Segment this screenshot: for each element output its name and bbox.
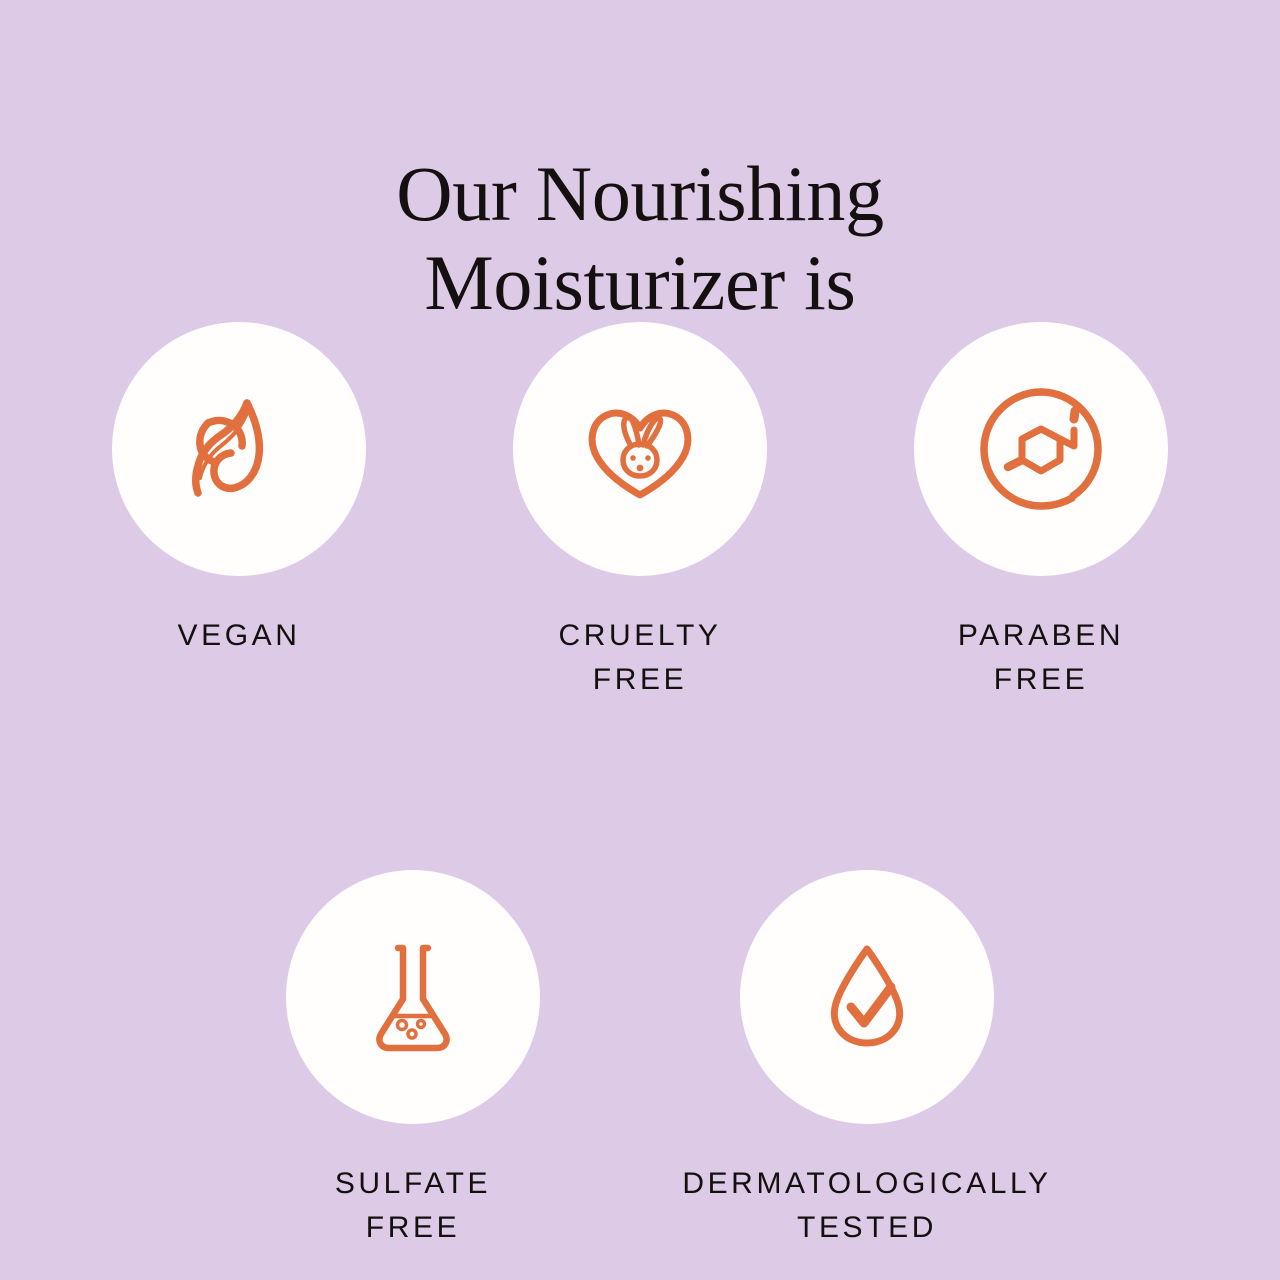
- page-title-line-2: Moisturizer is: [0, 239, 1280, 328]
- badge-label: SULFATE FREE: [335, 1162, 491, 1251]
- badge-dermatologically-tested[interactable]: DERMATOLOGICALLY TESTED: [740, 870, 994, 1251]
- molecule-circle-icon: [975, 383, 1107, 515]
- badge-row-1: VEGAN: [0, 322, 1280, 703]
- badge-grid: VEGAN: [0, 322, 1280, 1251]
- flask-icon: [347, 931, 479, 1063]
- badge-row-2: SULFATE FREE: [0, 870, 1280, 1251]
- page-title-line-1: Our Nourishing: [0, 150, 1280, 239]
- badge-icon-container: [112, 322, 366, 576]
- badge-label: CRUELTY FREE: [559, 614, 722, 703]
- droplet-check-icon: [801, 931, 933, 1063]
- heart-bunny-icon: [574, 383, 706, 515]
- badge-paraben-free[interactable]: PARABEN FREE: [914, 322, 1168, 703]
- badge-icon-container: [914, 322, 1168, 576]
- page-title: Our Nourishing Moisturizer is: [0, 150, 1280, 328]
- badge-vegan[interactable]: VEGAN: [112, 322, 366, 658]
- badge-label: VEGAN: [177, 614, 300, 658]
- badge-icon-container: [740, 870, 994, 1124]
- badge-icon-container: [286, 870, 540, 1124]
- badge-label: DERMATOLOGICALLY TESTED: [657, 1162, 1077, 1251]
- badge-sulfate-free[interactable]: SULFATE FREE: [286, 870, 540, 1251]
- benefits-panel: Our Nourishing Moisturizer is: [0, 0, 1280, 1280]
- leaf-icon: [173, 383, 305, 515]
- badge-icon-container: [513, 322, 767, 576]
- badge-cruelty-free[interactable]: CRUELTY FREE: [513, 322, 767, 703]
- badge-label: PARABEN FREE: [958, 614, 1124, 703]
